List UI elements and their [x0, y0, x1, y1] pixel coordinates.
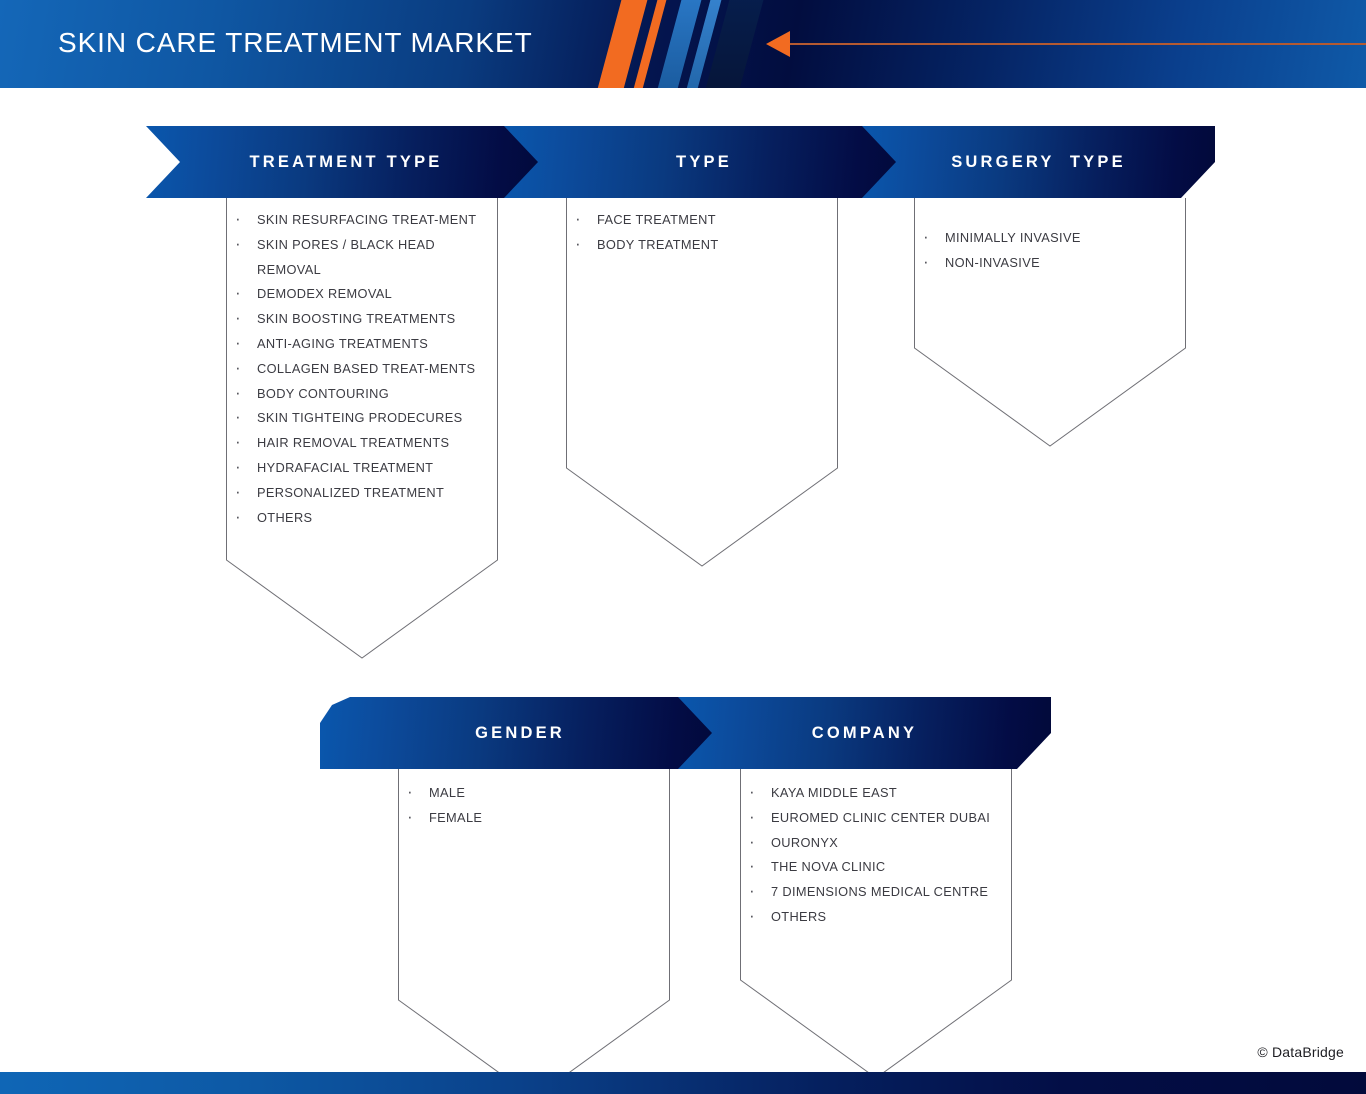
list-item: COLLAGEN BASED TREAT-MENTS: [227, 357, 497, 382]
list-item: OTHERS: [741, 905, 1011, 930]
section-banner-label: COMPANY: [812, 724, 918, 743]
page-title: SKIN CARE TREATMENT MARKET: [58, 27, 533, 59]
footer-bar: [0, 1072, 1366, 1094]
section-list-treatment-type: SKIN RESURFACING TREAT-MENT SKIN PORES /…: [227, 198, 497, 530]
section-banner-treatment-type[interactable]: TREATMENT TYPE: [146, 126, 546, 198]
list-item: FACE TREATMENT: [567, 208, 837, 233]
card-bottom-point: [740, 979, 1012, 1079]
list-item: SKIN TIGHTEING PRODECURES: [227, 406, 497, 431]
list-item: MALE: [399, 781, 669, 806]
list-item: DEMODEX REMOVAL: [227, 282, 497, 307]
page-header: SKIN CARE TREATMENT MARKET: [0, 0, 1366, 88]
arrow-line: [790, 43, 1366, 45]
list-item: OURONYX: [741, 831, 1011, 856]
section-banner-label: SURGERY TYPE: [951, 153, 1126, 172]
list-item: BODY TREATMENT: [567, 233, 837, 258]
list-item: ANTI-AGING TREATMENTS: [227, 332, 497, 357]
list-item: HYDRAFACIAL TREATMENT: [227, 456, 497, 481]
section-card-company: KAYA MIDDLE EAST EUROMED CLINIC CENTER D…: [740, 769, 1012, 980]
list-item: EUROMED CLINIC CENTER DUBAI: [741, 806, 1011, 831]
card-bottom-point: [226, 559, 498, 659]
section-banner-label: TREATMENT TYPE: [250, 153, 443, 172]
list-item: 7 DIMENSIONS MEDICAL CENTRE: [741, 880, 1011, 905]
section-banner-type[interactable]: TYPE: [504, 126, 904, 198]
list-item: KAYA MIDDLE EAST: [741, 781, 1011, 806]
section-list-gender: MALE FEMALE: [399, 769, 669, 831]
section-card-type: FACE TREATMENT BODY TREATMENT: [566, 198, 838, 468]
list-item: BODY CONTOURING: [227, 382, 497, 407]
list-item: SKIN PORES / BLACK HEAD REMOVAL: [227, 233, 497, 283]
list-item: SKIN RESURFACING TREAT-MENT: [227, 208, 497, 233]
list-item: OTHERS: [227, 506, 497, 531]
copyright-label: © DataBridge: [1257, 1044, 1344, 1060]
section-banner-label: TYPE: [676, 153, 732, 172]
list-item: MINIMALLY INVASIVE: [915, 226, 1185, 251]
card-bottom-point: [914, 347, 1186, 447]
section-list-type: FACE TREATMENT BODY TREATMENT: [567, 198, 837, 258]
list-item: SKIN BOOSTING TREATMENTS: [227, 307, 497, 332]
section-card-gender: MALE FEMALE: [398, 769, 670, 1000]
list-item: HAIR REMOVAL TREATMENTS: [227, 431, 497, 456]
card-bottom-point: [566, 467, 838, 567]
section-list-surgery-type: MINIMALLY INVASIVE NON-INVASIVE: [915, 198, 1185, 276]
section-banner-company[interactable]: COMPANY: [678, 697, 1051, 769]
section-banner-gender[interactable]: GENDER: [320, 697, 720, 769]
infographic-page: SKIN CARE TREATMENT MARKET TREATMENT TYP…: [0, 0, 1366, 1094]
list-item: FEMALE: [399, 806, 669, 831]
section-banner-label: GENDER: [475, 724, 565, 743]
list-item: THE NOVA CLINIC: [741, 855, 1011, 880]
section-card-treatment-type: SKIN RESURFACING TREAT-MENT SKIN PORES /…: [226, 198, 498, 560]
section-banner-surgery-type[interactable]: SURGERY TYPE: [862, 126, 1215, 198]
arrow-left-icon: [766, 31, 790, 57]
list-item: NON-INVASIVE: [915, 251, 1185, 276]
section-list-company: KAYA MIDDLE EAST EUROMED CLINIC CENTER D…: [741, 769, 1011, 930]
list-item: PERSONALIZED TREATMENT: [227, 481, 497, 506]
section-card-surgery-type: MINIMALLY INVASIVE NON-INVASIVE: [914, 198, 1186, 348]
